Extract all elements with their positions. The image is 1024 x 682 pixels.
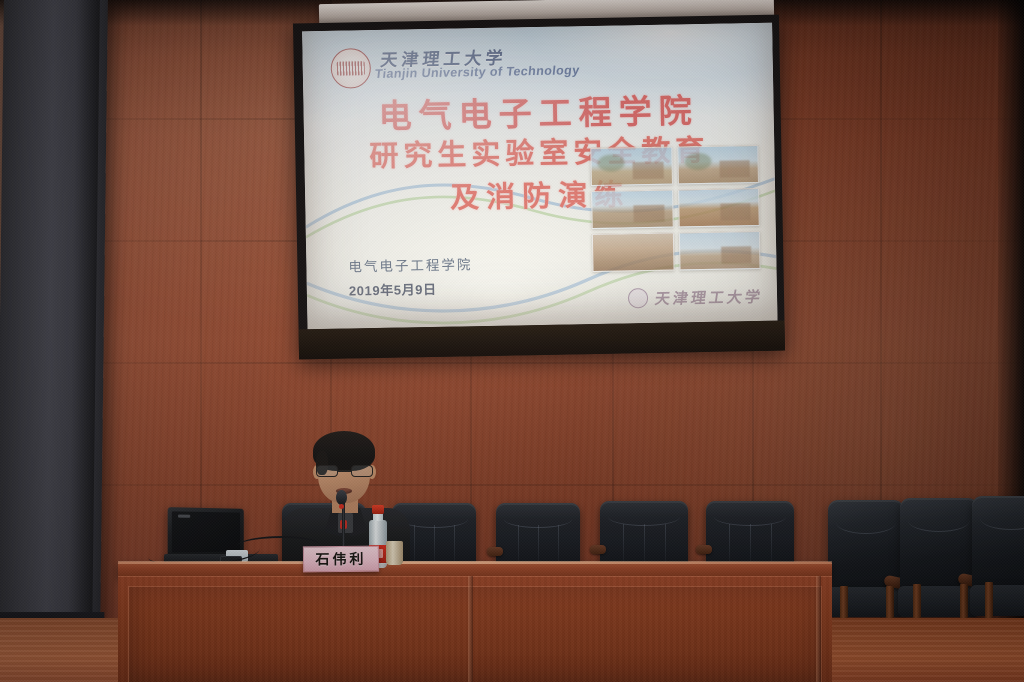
- table-edge-highlight: [118, 561, 832, 564]
- paper-cup[interactable]: [386, 541, 403, 565]
- conference-chair: [600, 501, 688, 569]
- wall-seam-horizontal: [0, 484, 1024, 486]
- screen-surface: 天津理工大学 Tianjin University of Technology …: [302, 23, 777, 330]
- support-pillar: [0, 0, 108, 634]
- chair-seat: [970, 585, 1024, 616]
- pillar-shadow-edge: [68, 0, 100, 634]
- projection-screen: 天津理工大学 Tianjin University of Technology …: [293, 0, 782, 370]
- name-placard-text: 石伟利: [315, 549, 366, 570]
- microphone-indicator-light: [339, 504, 344, 509]
- laptop-brand-logo-icon: [178, 515, 190, 518]
- name-placard: 石伟利: [303, 546, 379, 573]
- bottle-cap: [372, 505, 384, 514]
- chair-seat: [826, 587, 907, 617]
- table-section-divider: [816, 576, 821, 682]
- lecture-hall-scene: 天津理工大学 Tianjin University of Technology …: [0, 0, 1024, 682]
- chair-backrest: [972, 496, 1024, 591]
- slide-vignette: [302, 23, 777, 330]
- table-section-divider: [468, 576, 473, 682]
- microphone-icon: [336, 490, 347, 505]
- conference-chair: [706, 501, 794, 569]
- eyeglasses-icon: [316, 465, 373, 477]
- conference-chair: [496, 503, 580, 569]
- table-wood-grain: [118, 576, 832, 682]
- screen-frame: 天津理工大学 Tianjin University of Technology …: [293, 15, 785, 360]
- bottle-neck: [373, 514, 383, 521]
- presentation-slide: 天津理工大学 Tianjin University of Technology …: [302, 23, 777, 330]
